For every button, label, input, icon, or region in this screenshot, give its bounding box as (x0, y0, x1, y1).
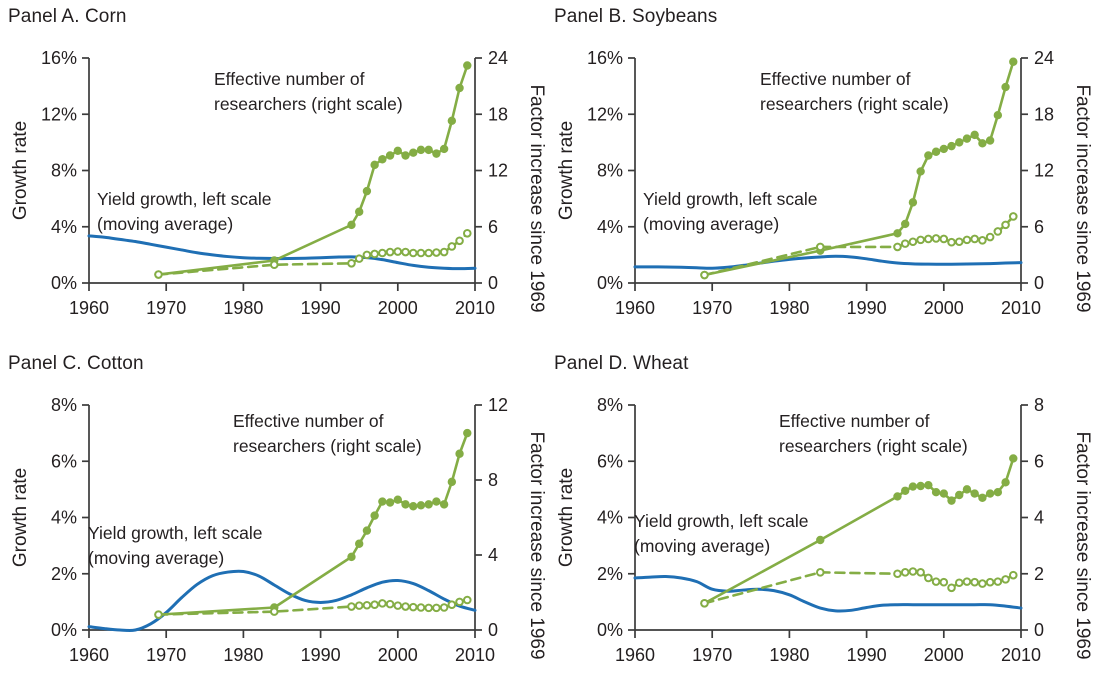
series-group (635, 455, 1021, 611)
data-point-open (941, 236, 948, 243)
data-point-filled (394, 496, 401, 503)
data-point-filled (402, 501, 409, 508)
left-axis-tick-label: 0% (597, 273, 623, 293)
x-axis-tick-label: 2010 (455, 645, 495, 665)
x-axis-tick-label: 2000 (378, 298, 418, 318)
data-point-filled (948, 143, 955, 150)
data-point-open (987, 234, 994, 241)
x-axis-tick-label: 1970 (692, 645, 732, 665)
data-point-filled (917, 168, 924, 175)
data-point-filled (410, 149, 417, 156)
right-axis-title: Factor increase since 1969 (1072, 431, 1092, 659)
left-axis-tick-label: 8% (51, 161, 77, 181)
data-point-open (956, 579, 963, 586)
annotation-yield-line2: (moving average) (88, 548, 224, 568)
data-point-open (956, 238, 963, 245)
data-point-open (902, 240, 909, 247)
data-point-open (1002, 576, 1009, 583)
data-point-filled (456, 84, 463, 91)
data-point-open (387, 601, 394, 608)
data-point-open (364, 602, 371, 609)
chart-svg-soybeans: 0%4%8%12%16%0612182419601970198019902000… (546, 0, 1092, 347)
data-point-filled (425, 501, 432, 508)
left-axis-tick-label: 12% (41, 104, 77, 124)
data-point-filled (402, 152, 409, 159)
right-axis-tick-label: 0 (488, 620, 498, 640)
left-axis-title: Growth rate (556, 468, 577, 567)
data-point-open (464, 230, 471, 237)
panel-soybeans: Panel B. Soybeans 0%4%8%12%16%0612182419… (546, 0, 1092, 347)
annotation-researchers-line2: researchers (right scale) (779, 436, 968, 456)
data-point-open (971, 236, 978, 243)
data-point-open (410, 250, 417, 257)
data-point-filled (909, 199, 916, 206)
left-axis-title: Growth rate (10, 468, 31, 567)
left-axis-tick-label: 4% (51, 508, 77, 528)
x-axis-tick-label: 1960 (615, 298, 655, 318)
data-point-open (418, 604, 425, 611)
right-axis-title: Factor increase since 1969 (526, 84, 546, 312)
data-point-filled (356, 208, 363, 215)
data-point-open (379, 600, 386, 607)
data-point-filled (1002, 83, 1009, 90)
data-point-filled (940, 490, 947, 497)
data-point-filled (932, 489, 939, 496)
data-point-open (995, 228, 1002, 235)
annotation-yield-line1: Yield growth, left scale (634, 511, 808, 531)
x-axis-tick-label: 2010 (455, 298, 495, 318)
x-axis-tick-label: 2000 (378, 645, 418, 665)
left-axis-tick-label: 8% (597, 161, 623, 181)
data-point-open (425, 605, 432, 612)
right-axis-tick-label: 4 (1034, 508, 1044, 528)
data-point-open (155, 611, 162, 618)
x-axis-tick-label: 1980 (769, 298, 809, 318)
chart-svg-wheat: 0%2%4%6%8%02468196019701980199020002010G… (546, 347, 1092, 694)
data-point-open (395, 248, 402, 255)
data-point-open (155, 271, 162, 278)
x-axis-tick-label: 1960 (69, 298, 109, 318)
data-point-open (910, 568, 917, 575)
data-point-filled (1010, 455, 1017, 462)
data-point-filled (817, 536, 824, 543)
left-axis-tick-label: 6% (51, 451, 77, 471)
x-axis-tick-label: 2000 (924, 298, 964, 318)
data-point-filled (979, 140, 986, 147)
annotation-yield-line1: Yield growth, left scale (643, 189, 817, 209)
data-point-filled (925, 152, 932, 159)
data-point-filled (410, 503, 417, 510)
annotation-researchers-line1: Effective number of (233, 411, 384, 431)
chart-svg-cotton: 0%2%4%6%8%04812196019701980199020002010G… (0, 347, 546, 694)
data-point-open (979, 237, 986, 244)
data-point-open (941, 579, 948, 586)
data-point-open (902, 569, 909, 576)
data-point-open (995, 578, 1002, 585)
data-point-open (441, 249, 448, 256)
data-point-filled (932, 148, 939, 155)
x-axis-tick-label: 1990 (847, 298, 887, 318)
data-point-filled (894, 493, 901, 500)
left-axis-tick-label: 16% (587, 48, 623, 68)
x-axis-tick-label: 1960 (69, 645, 109, 665)
data-point-filled (902, 487, 909, 494)
data-point-filled (448, 478, 455, 485)
right-axis-tick-label: 18 (488, 104, 508, 124)
left-axis-tick-label: 0% (51, 273, 77, 293)
data-point-open (425, 250, 432, 257)
data-point-filled (394, 147, 401, 154)
data-point-open (925, 575, 932, 582)
data-point-open (933, 578, 940, 585)
data-point-open (979, 580, 986, 587)
annotation-yield-line1: Yield growth, left scale (97, 189, 271, 209)
panel-wheat: Panel D. Wheat 0%2%4%6%8%024681960197019… (546, 347, 1092, 694)
series-line-researchers-dashed (704, 572, 1013, 604)
data-point-open (817, 244, 824, 251)
data-point-filled (363, 188, 370, 195)
right-axis-tick-label: 12 (488, 161, 508, 181)
series-group (635, 58, 1021, 278)
data-point-filled (1010, 58, 1017, 65)
right-axis-title: Factor increase since 1969 (1072, 84, 1092, 312)
left-axis-tick-label: 4% (51, 217, 77, 237)
data-point-open (1002, 222, 1009, 229)
right-axis-tick-label: 18 (1034, 104, 1054, 124)
annotation-group: Effective number ofresearchers (right sc… (88, 411, 422, 568)
data-point-open (395, 602, 402, 609)
left-axis-tick-label: 8% (51, 395, 77, 415)
data-point-filled (425, 146, 432, 153)
data-point-filled (363, 527, 370, 534)
data-point-filled (917, 482, 924, 489)
data-point-open (971, 579, 978, 586)
data-point-filled (379, 498, 386, 505)
left-axis-tick-label: 6% (597, 451, 623, 471)
x-axis-tick-label: 2010 (1001, 645, 1041, 665)
data-point-filled (356, 540, 363, 547)
data-point-open (356, 602, 363, 609)
x-axis-tick-label: 1980 (769, 645, 809, 665)
data-point-filled (348, 553, 355, 560)
data-point-filled (433, 498, 440, 505)
data-point-filled (994, 489, 1001, 496)
data-point-open (441, 604, 448, 611)
data-point-open (371, 601, 378, 608)
right-axis-tick-label: 0 (1034, 620, 1044, 640)
data-point-filled (448, 117, 455, 124)
annotation-researchers-line2: researchers (right scale) (214, 94, 403, 114)
data-point-open (987, 579, 994, 586)
data-point-open (917, 569, 924, 576)
data-point-open (464, 597, 471, 604)
data-point-open (449, 601, 456, 608)
annotation-researchers-line2: researchers (right scale) (233, 436, 422, 456)
left-axis-tick-label: 12% (587, 104, 623, 124)
data-point-open (356, 255, 363, 262)
data-point-open (964, 578, 971, 585)
data-point-filled (379, 156, 386, 163)
data-point-open (964, 237, 971, 244)
series-line-yield-growth (635, 256, 1021, 268)
x-axis-tick-label: 1970 (146, 645, 186, 665)
left-axis-title: Growth rate (10, 121, 31, 220)
annotation-researchers-line2: researchers (right scale) (760, 94, 949, 114)
data-point-open (933, 235, 940, 242)
data-point-filled (971, 490, 978, 497)
data-point-open (948, 585, 955, 592)
annotation-yield-line2: (moving average) (97, 214, 233, 234)
left-axis-tick-label: 16% (41, 48, 77, 68)
data-point-open (348, 603, 355, 610)
data-point-open (387, 249, 394, 256)
data-point-open (271, 261, 278, 268)
data-point-filled (417, 502, 424, 509)
data-point-open (433, 605, 440, 612)
left-axis-tick-label: 4% (597, 217, 623, 237)
data-point-filled (371, 161, 378, 168)
data-point-open (433, 249, 440, 256)
data-point-filled (956, 491, 963, 498)
data-point-open (1010, 213, 1017, 220)
annotation-researchers-line1: Effective number of (760, 69, 911, 89)
data-point-filled (348, 221, 355, 228)
x-axis-tick-label: 1970 (692, 298, 732, 318)
data-point-filled (441, 501, 448, 508)
data-point-open (456, 599, 463, 606)
data-point-filled (464, 430, 471, 437)
right-axis-tick-label: 8 (488, 470, 498, 490)
right-axis-tick-label: 6 (1034, 451, 1044, 471)
annotation-yield-line2: (moving average) (634, 536, 770, 556)
data-point-filled (963, 135, 970, 142)
x-axis-tick-label: 1980 (223, 645, 263, 665)
data-point-open (348, 260, 355, 267)
right-axis-tick-label: 0 (488, 273, 498, 293)
data-point-filled (987, 137, 994, 144)
left-axis-title: Growth rate (556, 121, 577, 220)
data-point-filled (909, 483, 916, 490)
annotation-yield-line1: Yield growth, left scale (88, 523, 262, 543)
data-point-open (917, 237, 924, 244)
left-axis-tick-label: 4% (597, 508, 623, 528)
left-axis-tick-label: 0% (51, 620, 77, 640)
left-axis-tick-label: 2% (51, 564, 77, 584)
data-point-open (456, 238, 463, 245)
data-point-filled (994, 112, 1001, 119)
data-point-open (402, 249, 409, 256)
data-point-open (449, 243, 456, 250)
left-axis-tick-label: 0% (597, 620, 623, 640)
x-axis-tick-label: 1980 (223, 298, 263, 318)
right-axis-tick-label: 12 (1034, 161, 1054, 181)
right-axis-tick-label: 12 (488, 395, 508, 415)
data-point-open (418, 250, 425, 257)
data-point-open (701, 600, 708, 607)
data-point-filled (386, 499, 393, 506)
x-axis-tick-label: 2010 (1001, 298, 1041, 318)
data-point-filled (979, 494, 986, 501)
data-point-filled (371, 512, 378, 519)
data-point-open (910, 238, 917, 245)
annotation-researchers-line1: Effective number of (779, 411, 930, 431)
data-point-filled (948, 497, 955, 504)
data-point-filled (417, 146, 424, 153)
data-point-filled (987, 490, 994, 497)
x-axis-tick-label: 1990 (301, 645, 341, 665)
data-point-filled (925, 482, 932, 489)
data-point-open (1010, 572, 1017, 579)
panel-cotton: Panel C. Cotton 0%2%4%6%8%04812196019701… (0, 347, 546, 694)
x-axis-tick-label: 2000 (924, 645, 964, 665)
left-axis-tick-label: 2% (597, 564, 623, 584)
data-point-open (701, 272, 708, 279)
data-point-open (410, 604, 417, 611)
right-axis-tick-label: 6 (488, 217, 498, 237)
data-point-open (402, 603, 409, 610)
right-axis-tick-label: 8 (1034, 395, 1044, 415)
data-point-filled (971, 131, 978, 138)
data-point-filled (464, 62, 471, 69)
data-point-filled (433, 150, 440, 157)
series-line-yield-growth (89, 571, 475, 630)
right-axis-tick-label: 0 (1034, 273, 1044, 293)
x-axis-tick-label: 1970 (146, 298, 186, 318)
right-axis-title: Factor increase since 1969 (526, 431, 546, 659)
data-point-open (948, 239, 955, 246)
annotation-researchers-line1: Effective number of (214, 69, 365, 89)
right-axis-tick-label: 24 (1034, 48, 1054, 68)
right-axis-tick-label: 6 (1034, 217, 1044, 237)
data-point-open (817, 569, 824, 576)
data-point-open (925, 236, 932, 243)
right-axis-tick-label: 24 (488, 48, 508, 68)
x-axis-tick-label: 1990 (301, 298, 341, 318)
data-point-open (271, 608, 278, 615)
data-point-filled (894, 230, 901, 237)
panel-corn: Panel A. Corn 0%4%8%12%16%06121824196019… (0, 0, 546, 347)
x-axis-tick-label: 1960 (615, 645, 655, 665)
data-point-filled (386, 152, 393, 159)
data-point-filled (902, 220, 909, 227)
data-point-filled (940, 145, 947, 152)
data-point-open (364, 252, 371, 259)
data-point-filled (956, 139, 963, 146)
data-point-open (379, 250, 386, 257)
right-axis-tick-label: 2 (1034, 564, 1044, 584)
data-point-open (894, 570, 901, 577)
right-axis-tick-label: 4 (488, 545, 498, 565)
data-point-filled (456, 450, 463, 457)
data-point-open (894, 244, 901, 251)
annotation-yield-line2: (moving average) (643, 214, 779, 234)
annotation-group: Effective number ofresearchers (right sc… (643, 69, 949, 234)
chart-svg-corn: 0%4%8%12%16%0612182419601970198019902000… (0, 0, 546, 347)
data-point-filled (441, 145, 448, 152)
data-point-filled (963, 486, 970, 493)
x-axis-tick-label: 1990 (847, 645, 887, 665)
data-point-filled (1002, 479, 1009, 486)
data-point-open (371, 251, 378, 258)
left-axis-tick-label: 8% (597, 395, 623, 415)
figure-four-panel-chart: Panel A. Corn 0%4%8%12%16%06121824196019… (0, 0, 1093, 694)
